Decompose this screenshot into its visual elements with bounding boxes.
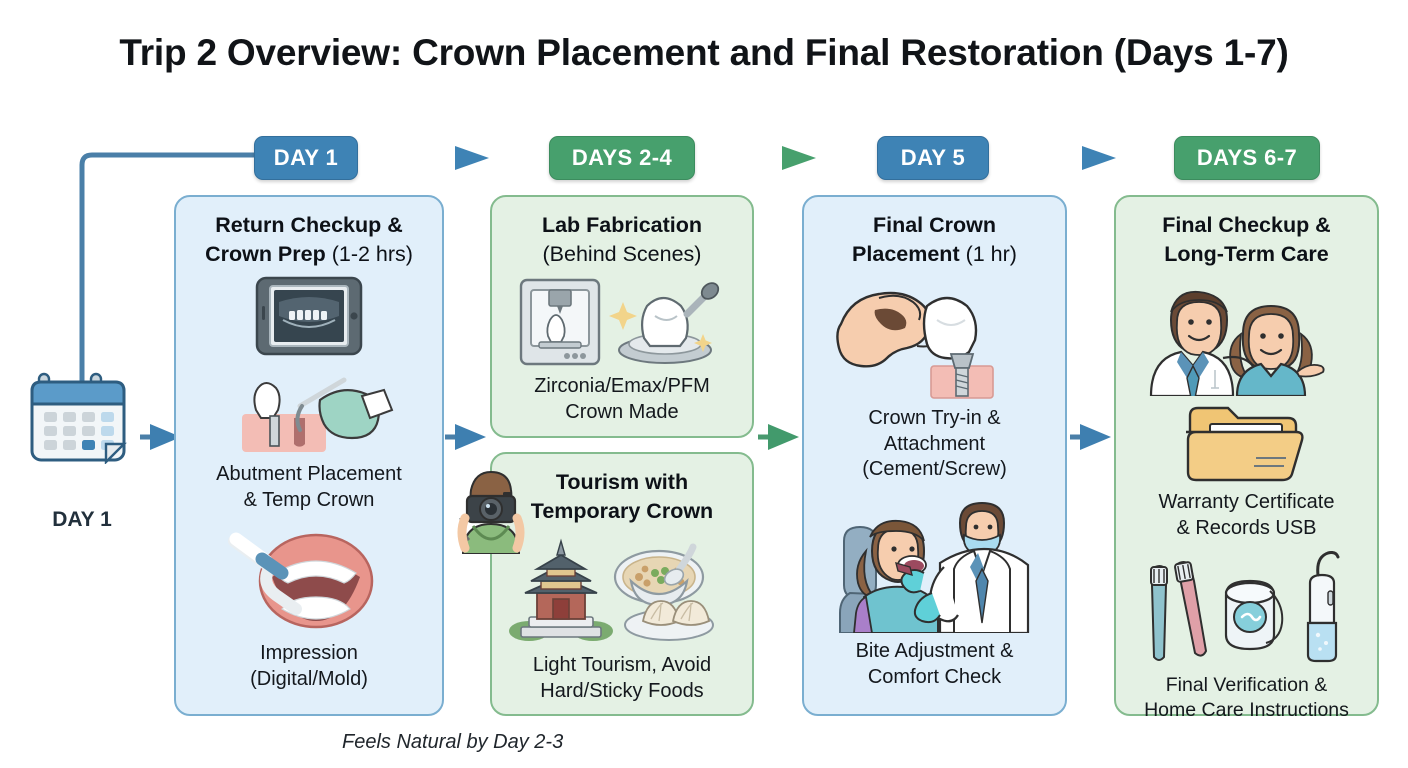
arrowhead-badge3-badge4 (1082, 146, 1116, 170)
card-4-caption-2: Bite Adjustment & Comfort Check (856, 639, 1014, 690)
badge-days-2-4[interactable]: DAYS 2-4 (549, 136, 695, 180)
card-5-title-bold: Final Checkup & Long-Term Care (1162, 213, 1330, 266)
card-2-title-bold: Lab Fabrication (542, 213, 702, 237)
arrowhead-badge2-badge3 (782, 146, 816, 170)
badge-day-1[interactable]: DAY 1 (254, 136, 358, 180)
badge-day-5[interactable]: DAY 5 (877, 136, 989, 180)
card-5-caption-1: Warranty Certificate & Records USB (1159, 490, 1335, 541)
pagoda-and-food-icon (507, 535, 737, 645)
folder-documents-icon (1182, 402, 1312, 484)
card-5-title: Final Checkup & Long-Term Care (1162, 211, 1330, 268)
arrowhead-card1-card2 (455, 424, 486, 450)
hand-holding-crown-icon (835, 280, 1035, 400)
photographer-icon (455, 466, 527, 554)
oral-hygiene-tools-icon (1132, 551, 1362, 669)
card-2-caption: Zirconia/Emax/PFM Crown Made (534, 374, 710, 425)
card-5-caption-2: Final Verification & Home Care Instructi… (1144, 673, 1349, 723)
card-4-caption-1: Crown Try-in & Attachment (Cement/Screw) (862, 406, 1006, 483)
card-2-title: Lab Fabrication(Behind Scenes) (542, 211, 702, 268)
3d-printer-and-polished-crown-icon (517, 276, 727, 368)
card-3-title: Tourism with Temporary Crown (531, 468, 713, 525)
arrowhead-badge1-badge2 (455, 146, 489, 170)
card-1-caption-1: Abutment Placement & Temp Crown (216, 462, 402, 513)
arrowhead-card3-card4 (1080, 424, 1111, 450)
dental-xray-tablet-icon (255, 276, 363, 356)
dentist-bite-check-icon (820, 493, 1050, 633)
card-tourism[interactable]: Tourism with Temporary Crown (490, 452, 754, 716)
footnote-text: Feels Natural by Day 2-3 (342, 731, 563, 754)
card-return-checkup[interactable]: Return Checkup & Crown Prep (1-2 hrs) (174, 195, 444, 716)
card-1-title: Return Checkup & Crown Prep (1-2 hrs) (186, 211, 432, 268)
start-node-label: DAY 1 (14, 508, 150, 532)
card-3-title-bold: Tourism with Temporary Crown (531, 470, 713, 523)
implant-abutment-hand-icon (224, 366, 394, 458)
card-3-caption: Light Tourism, Avoid Hard/Sticky Foods (533, 653, 711, 704)
card-4-title-light: (1 hr) (966, 242, 1017, 266)
card-1-caption-2: Impression (Digital/Mold) (250, 641, 368, 692)
card-lab-fabrication[interactable]: Lab Fabrication(Behind Scenes) Z (490, 195, 754, 438)
badge-days-6-7[interactable]: DAYS 6-7 (1174, 136, 1320, 180)
diagram-canvas: Trip 2 Overview: Crown Placement and Fin… (0, 0, 1408, 768)
calendar-icon (30, 372, 134, 464)
card-final-checkup[interactable]: Final Checkup & Long-Term Care (1114, 195, 1379, 716)
dental-impression-mouth-icon (224, 525, 394, 635)
card-final-crown-placement[interactable]: Final Crown Placement (1 hr) (802, 195, 1067, 716)
card-4-title: Final Crown Placement (1 hr) (852, 211, 1017, 268)
card-2-title-light: (Behind Scenes) (543, 242, 702, 266)
dentist-and-patient-icon (1137, 278, 1357, 396)
card-1-title-light: (1-2 hrs) (332, 242, 413, 266)
arrowhead-card2-card3 (768, 424, 799, 450)
